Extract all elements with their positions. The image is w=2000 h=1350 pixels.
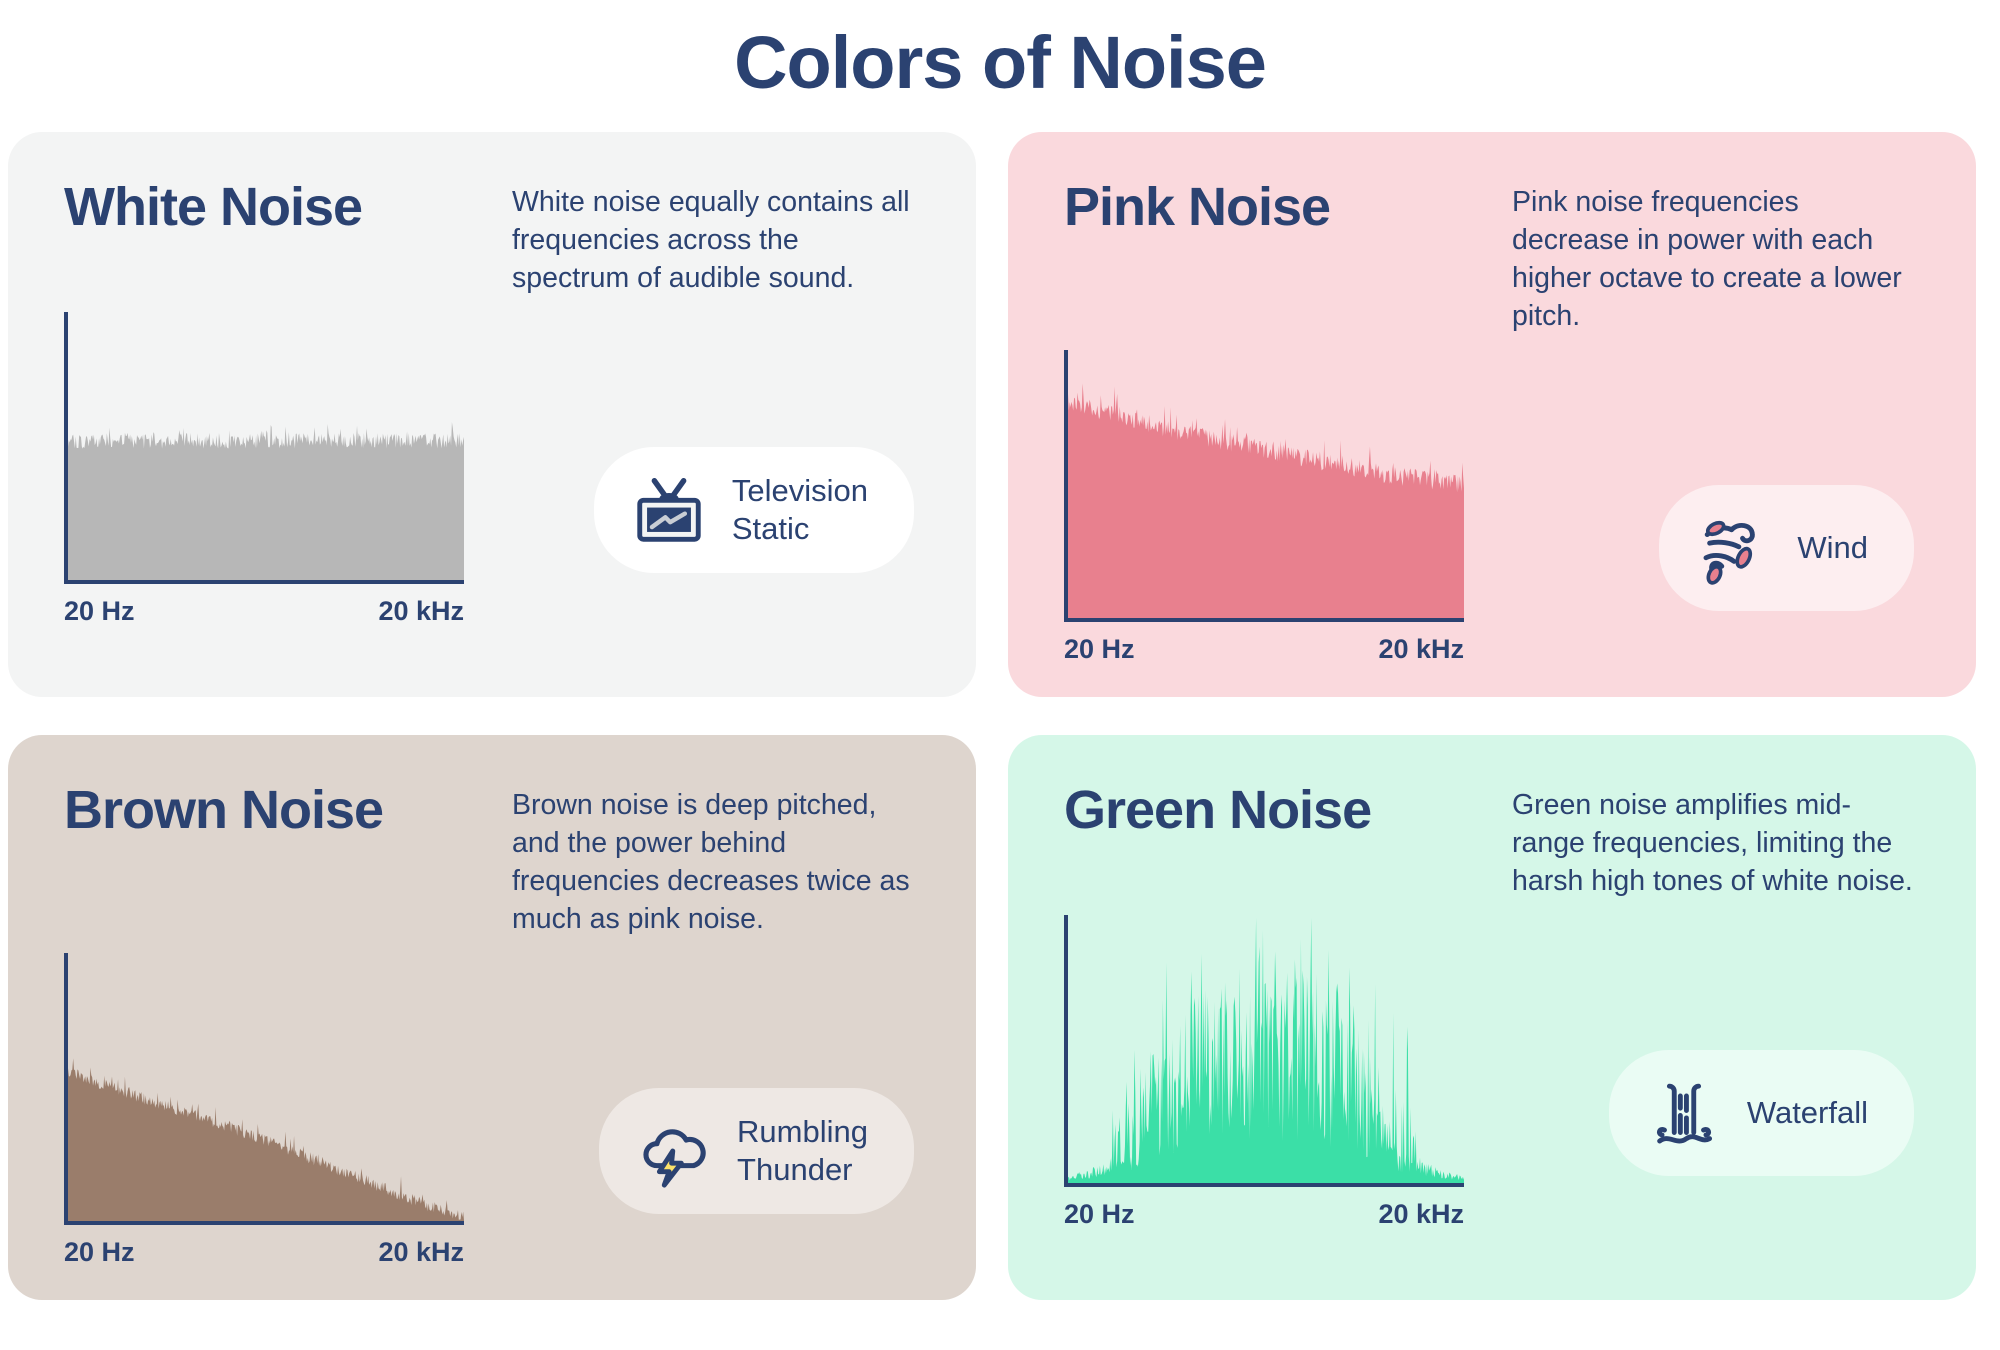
badge-column: Wind — [1494, 485, 1920, 665]
badge-label: Television Static — [732, 472, 868, 548]
card-pink-noise: Pink NoisePink noise frequencies decreas… — [1008, 132, 1976, 697]
axis-label-high: 20 kHz — [378, 596, 464, 627]
card-title: White Noise — [64, 174, 494, 235]
axis-tick-labels: 20 Hz20 kHz — [1064, 1199, 1464, 1230]
spectrum-chart-wrap: 20 Hz20 kHz — [1064, 350, 1494, 665]
axis-label-high: 20 kHz — [1378, 1199, 1464, 1230]
badge-label: Waterfall — [1747, 1094, 1868, 1132]
axis-label-low: 20 Hz — [64, 596, 135, 627]
card-description: Pink noise frequencies decrease in power… — [1512, 174, 1920, 336]
badge-column: Rumbling Thunder — [494, 1088, 920, 1268]
spectrum-chart — [1064, 350, 1494, 622]
spectrum-plot — [1068, 915, 1464, 1183]
card-body: 20 Hz20 kHzTelevision Static — [64, 312, 920, 627]
card-header: Green NoiseGreen noise amplifies mid-ran… — [1064, 777, 1920, 901]
source-badge-green-noise[interactable]: Waterfall — [1609, 1050, 1914, 1176]
wind-icon — [1695, 509, 1773, 587]
card-title: Green Noise — [1064, 777, 1494, 838]
axis-tick-labels: 20 Hz20 kHz — [64, 1237, 464, 1268]
axis-label-low: 20 Hz — [1064, 634, 1135, 665]
x-axis — [1064, 618, 1464, 622]
source-badge-brown-noise[interactable]: Rumbling Thunder — [599, 1088, 914, 1214]
x-axis — [1064, 1183, 1464, 1187]
axis-label-high: 20 kHz — [1378, 634, 1464, 665]
spectrum-chart — [64, 312, 494, 584]
badge-column: Waterfall — [1494, 1050, 1920, 1230]
axis-label-low: 20 Hz — [64, 1237, 135, 1268]
axis-tick-labels: 20 Hz20 kHz — [1064, 634, 1464, 665]
waterfall-icon — [1645, 1074, 1723, 1152]
source-badge-white-noise[interactable]: Television Static — [594, 447, 914, 573]
card-body: 20 Hz20 kHzWind — [1064, 350, 1920, 665]
card-header: Pink NoisePink noise frequencies decreas… — [1064, 174, 1920, 336]
x-axis — [64, 580, 464, 584]
badge-label: Wind — [1797, 529, 1868, 567]
axis-label-high: 20 kHz — [378, 1237, 464, 1268]
card-green-noise: Green NoiseGreen noise amplifies mid-ran… — [1008, 735, 1976, 1300]
spectrum-chart-wrap: 20 Hz20 kHz — [64, 953, 494, 1268]
television-icon — [630, 471, 708, 549]
card-body: 20 Hz20 kHzRumbling Thunder — [64, 953, 920, 1268]
card-header: White NoiseWhite noise equally contains … — [64, 174, 920, 298]
noise-card-grid: White NoiseWhite noise equally contains … — [0, 132, 2000, 1300]
card-title: Brown Noise — [64, 777, 494, 838]
spectrum-plot — [1068, 350, 1464, 618]
badge-label: Rumbling Thunder — [737, 1113, 868, 1189]
axis-tick-labels: 20 Hz20 kHz — [64, 596, 464, 627]
source-badge-pink-noise[interactable]: Wind — [1659, 485, 1914, 611]
card-body: 20 Hz20 kHzWaterfall — [1064, 915, 1920, 1230]
spectrum-chart — [64, 953, 494, 1225]
spectrum-plot — [68, 953, 464, 1221]
card-brown-noise: Brown NoiseBrown noise is deep pitched, … — [8, 735, 976, 1300]
card-title: Pink Noise — [1064, 174, 1494, 235]
card-description: White noise equally contains all frequen… — [512, 174, 920, 298]
x-axis — [64, 1221, 464, 1225]
badge-column: Television Static — [494, 447, 920, 627]
card-header: Brown NoiseBrown noise is deep pitched, … — [64, 777, 920, 939]
spectrum-chart-wrap: 20 Hz20 kHz — [1064, 915, 1494, 1230]
axis-label-low: 20 Hz — [1064, 1199, 1135, 1230]
spectrum-chart — [1064, 915, 1494, 1187]
spectrum-chart-wrap: 20 Hz20 kHz — [64, 312, 494, 627]
thunder-cloud-icon — [635, 1112, 713, 1190]
page-title: Colors of Noise — [0, 0, 2000, 100]
card-white-noise: White NoiseWhite noise equally contains … — [8, 132, 976, 697]
spectrum-plot — [68, 312, 464, 580]
card-description: Brown noise is deep pitched, and the pow… — [512, 777, 920, 939]
card-description: Green noise amplifies mid-range frequenc… — [1512, 777, 1920, 901]
